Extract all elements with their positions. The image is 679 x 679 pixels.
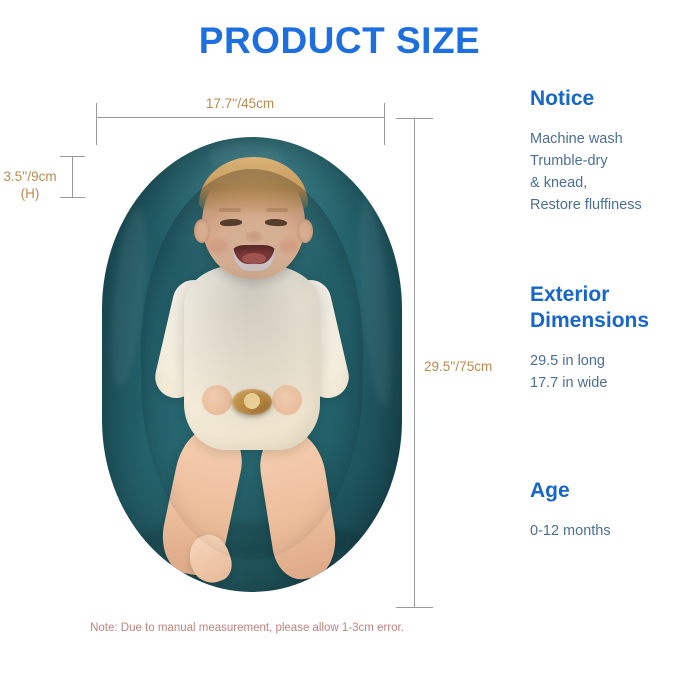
age-line: 0-12 months [530,520,611,542]
height-dimension-value: 3.5''/9cm [3,169,56,184]
exterior-dimensions-section: Exterior Dimensions 29.5 in long 17.7 in… [530,282,649,394]
baby-onesie [184,265,320,450]
baby-eye-right [265,218,287,226]
exterior-heading-line1: Exterior [530,282,649,308]
exterior-body: 29.5 in long 17.7 in wide [530,350,649,394]
baby-mouth [233,245,275,271]
baby-brow-right [266,208,288,212]
notice-line: Machine wash [530,128,642,150]
baby-head [202,163,305,279]
baby-ear-right [297,219,313,243]
baby-lounger-product [102,137,402,592]
notice-line: Trumble-dry [530,150,642,172]
baby-ear-left [194,219,210,243]
age-section: Age 0-12 months [530,478,611,542]
exterior-line: 29.5 in long [530,350,649,372]
baby-nose [245,231,263,243]
product-size-infographic: PRODUCT SIZE [0,0,679,679]
measurement-disclaimer: Note: Due to manual measurement, please … [0,622,494,634]
exterior-heading-line2: Dimensions [530,308,649,334]
notice-heading: Notice [530,86,642,112]
age-heading: Age [530,478,611,504]
product-photo [96,120,414,607]
baby-hand-left [202,385,232,415]
notice-line: Restore fluffiness [530,194,642,216]
height-dimension-cap-bottom [60,197,85,198]
baby-figure [102,137,402,592]
height-dimension-label: 3.5''/9cm (H) [2,168,58,202]
notice-body: Machine wash Trumble-dry & knead, Restor… [530,128,642,216]
notice-section: Notice Machine wash Trumble-dry & knead,… [530,86,642,216]
baby-arm-right [285,276,353,402]
baby-hand-right [272,385,302,415]
baby-cheek-left [208,239,228,253]
length-dimension-line [414,118,415,607]
baby-brow-left [219,208,241,212]
height-dimension-line [72,156,73,198]
exterior-line: 17.7 in wide [530,372,649,394]
baby-tongue [242,253,266,264]
length-dimension-label: 29.5''/75cm [424,359,492,374]
width-dimension-line [96,117,384,118]
height-dimension-cap-top [60,156,85,157]
length-dimension-cap-bottom [396,607,433,608]
baby-foot-right [260,586,308,592]
baby-hair [199,157,308,215]
baby-eye-left [220,218,242,226]
age-body: 0-12 months [530,520,611,542]
baby-cheek-right [279,239,299,253]
pacifier [232,389,272,415]
page-title: PRODUCT SIZE [0,20,679,62]
baby-arm-left [151,276,219,402]
width-dimension-tick-right [384,103,385,145]
length-dimension-cap-top [396,118,433,119]
notice-line: & knead, [530,172,642,194]
width-dimension-label: 17.7''/45cm [96,96,384,111]
height-dimension-unit: (H) [21,186,40,201]
baby-leg-right [255,425,342,583]
